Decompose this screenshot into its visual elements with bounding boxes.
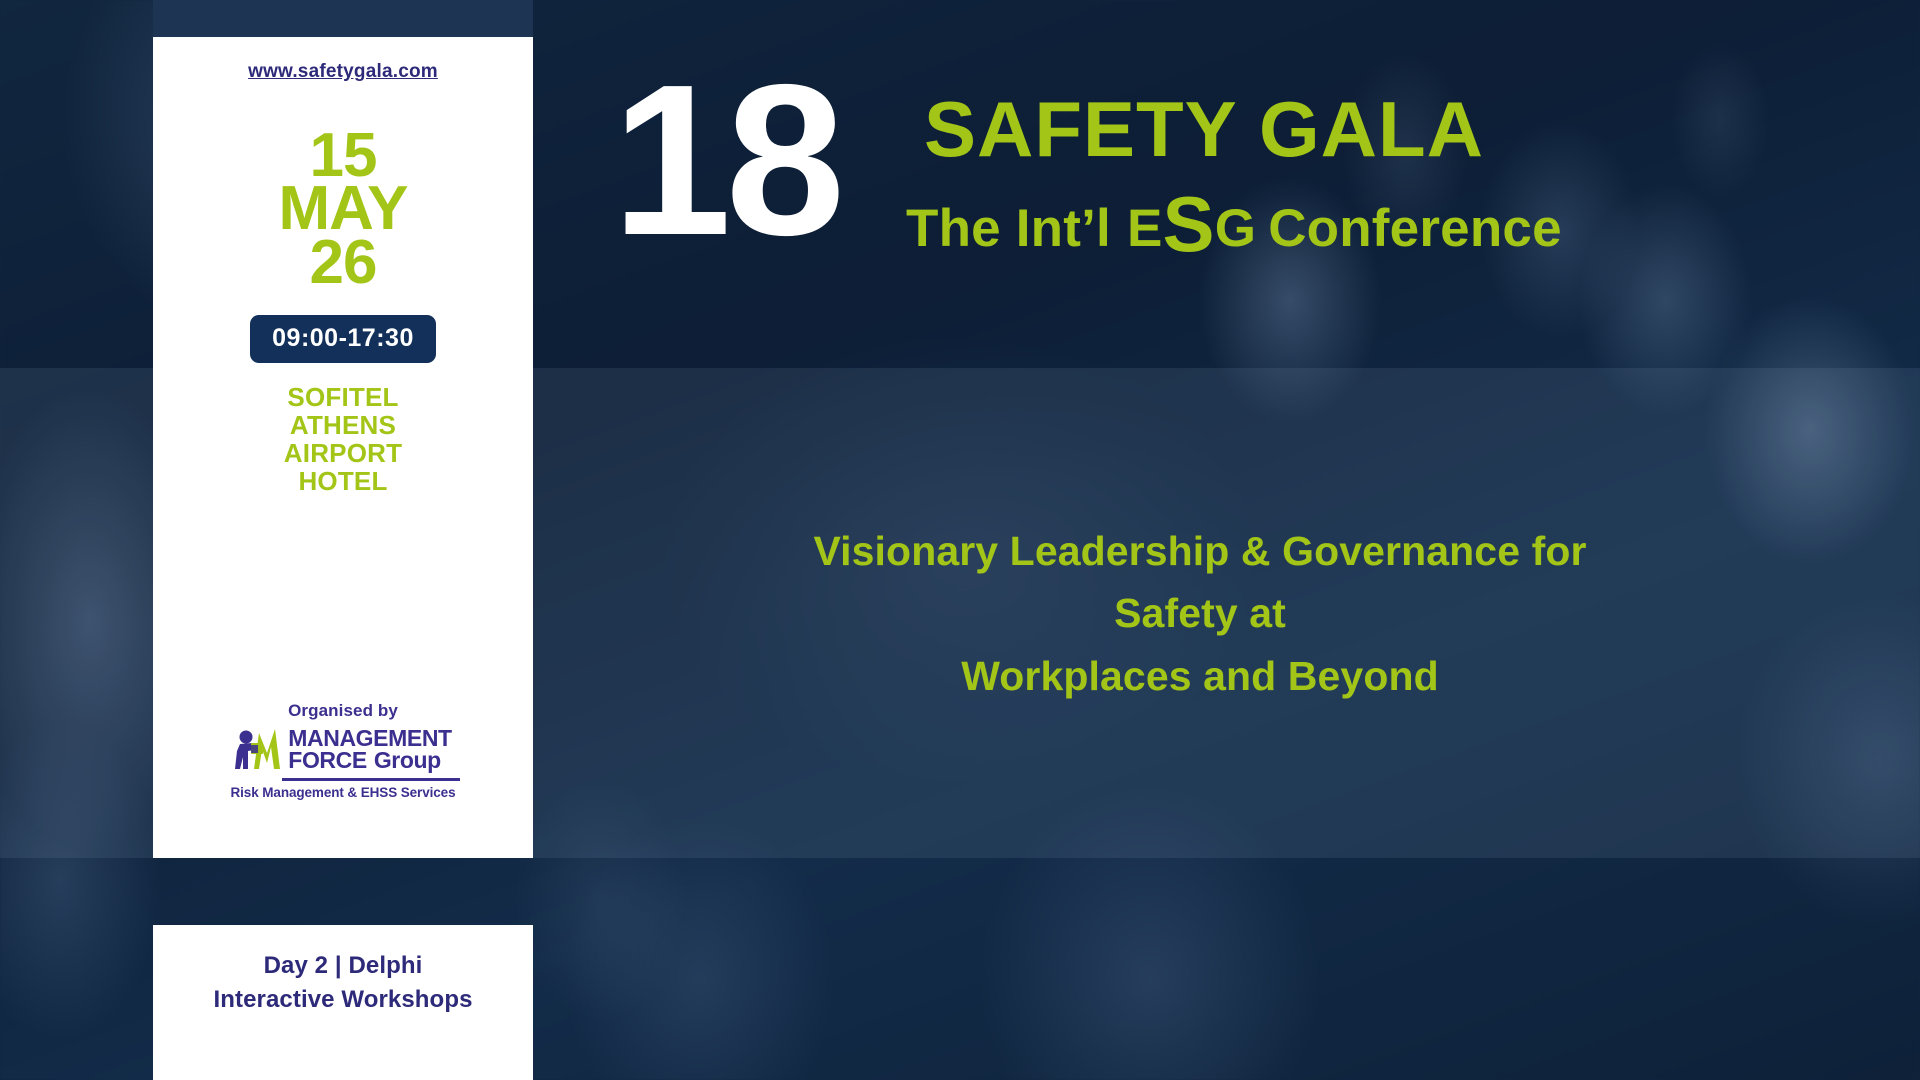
- event-date-year: 26: [278, 236, 407, 289]
- logo-line-management: MANAGEMENT: [288, 727, 451, 749]
- event-info-card: www.safetygala.com 15 MAY 26 09:00-17:30…: [153, 37, 533, 858]
- event-title: SAFETY GALA: [924, 90, 1484, 168]
- venue-line-3: AIRPORT: [284, 439, 402, 467]
- theme-line-1: Visionary Leadership & Governance for: [560, 520, 1840, 582]
- logo-wordmark: MANAGEMENT FORCEGroup: [288, 727, 451, 771]
- logo-tagline: Risk Management & EHSS Services: [231, 785, 456, 800]
- event-subtitle: The Int’l E S G Conference: [906, 202, 1562, 255]
- day-card-line-1: Day 2 | Delphi: [264, 949, 423, 983]
- conference-theme: Visionary Leadership & Governance for Sa…: [560, 520, 1840, 707]
- subtitle-letter-e: E: [1127, 202, 1163, 255]
- edition-number: 18: [612, 52, 839, 267]
- subtitle-prefix: The Int’l: [906, 202, 1111, 255]
- logo-word-group: Group: [374, 747, 441, 773]
- venue-block: SOFITEL ATHENS AIRPORT HOTEL: [284, 383, 402, 495]
- event-date-block: 15 MAY 26: [278, 129, 407, 289]
- event-time-badge: 09:00-17:30: [250, 315, 436, 363]
- logo-divider: [282, 778, 460, 781]
- venue-line-2: ATHENS: [284, 411, 402, 439]
- logo-line-force-group: FORCEGroup: [288, 749, 451, 771]
- subtitle-letter-g: G: [1215, 202, 1256, 255]
- management-force-logo: MANAGEMENT FORCEGroup: [234, 723, 451, 775]
- card-top-strip: [153, 0, 533, 37]
- venue-line-4: HOTEL: [284, 467, 402, 495]
- website-link[interactable]: www.safetygala.com: [248, 61, 438, 83]
- event-headline: 18 SAFETY GALA The Int’l E S G Conferenc…: [612, 62, 1812, 282]
- logo-word-force: FORCE: [288, 747, 367, 773]
- day-program-card: Day 2 | Delphi Interactive Workshops: [153, 925, 533, 1080]
- theme-line-3: Workplaces and Beyond: [560, 645, 1840, 707]
- venue-line-1: SOFITEL: [284, 383, 402, 411]
- theme-line-2: Safety at: [560, 582, 1840, 644]
- subtitle-suffix: Conference: [1268, 202, 1562, 255]
- person-lifting-box-icon: [234, 723, 292, 775]
- day-card-line-2: Interactive Workshops: [213, 983, 472, 1017]
- organised-by-label: Organised by: [288, 701, 398, 721]
- organiser-block: Organised by MANAGEMENT FORCEGroup Risk: [226, 701, 460, 800]
